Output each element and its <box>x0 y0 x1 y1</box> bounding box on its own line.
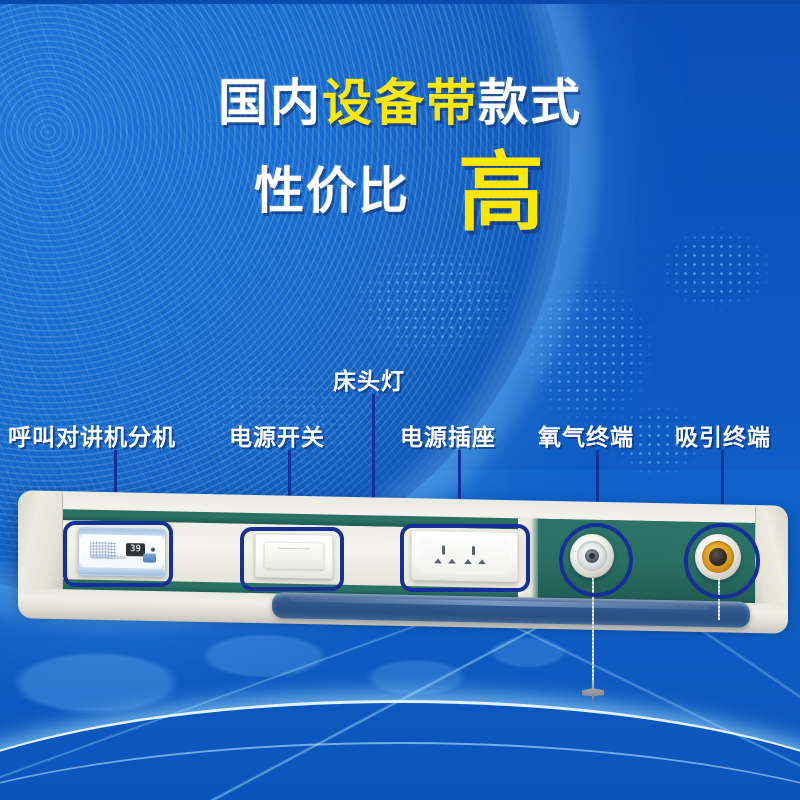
highlight-intercom <box>63 521 173 587</box>
highlight-power-switch <box>240 527 344 591</box>
headline-block: 国内设备带款式 性价比高 <box>0 78 800 236</box>
highlight-suction-terminal <box>684 523 760 599</box>
callout-label-power-socket: 电源插座 <box>400 418 496 452</box>
highlight-power-socket <box>400 524 530 592</box>
highlight-oxygen-terminal <box>559 523 633 597</box>
headline-line2-seg1: 性价比 <box>254 163 410 219</box>
callout-label-suction-terminal: 吸引终端 <box>675 418 771 452</box>
callout-label-oxygen-terminal: 氧气终端 <box>538 418 634 452</box>
headline-line-2: 性价比高 <box>0 150 800 236</box>
dotted-pattern-secondary <box>120 330 420 500</box>
top-edge-bar <box>0 0 800 4</box>
product-poster: 国内设备带款式 性价比高 呼叫对讲机分机 电源开关 床头灯 电源插座 氧气终端 … <box>0 0 800 800</box>
callout-label-intercom-extension: 呼叫对讲机分机 <box>8 418 176 452</box>
headline-line2-seg2: 高 <box>458 145 546 241</box>
callout-label-bed-lamp: 床头灯 <box>333 362 405 396</box>
headline-line-1: 国内设备带款式 <box>0 78 800 128</box>
headline-line1-seg2: 设备带 <box>322 75 478 131</box>
headline-line1-seg1: 国内 <box>218 75 322 131</box>
callout-label-power-switch: 电源开关 <box>229 418 325 452</box>
headline-line1-seg3: 款式 <box>478 75 582 131</box>
